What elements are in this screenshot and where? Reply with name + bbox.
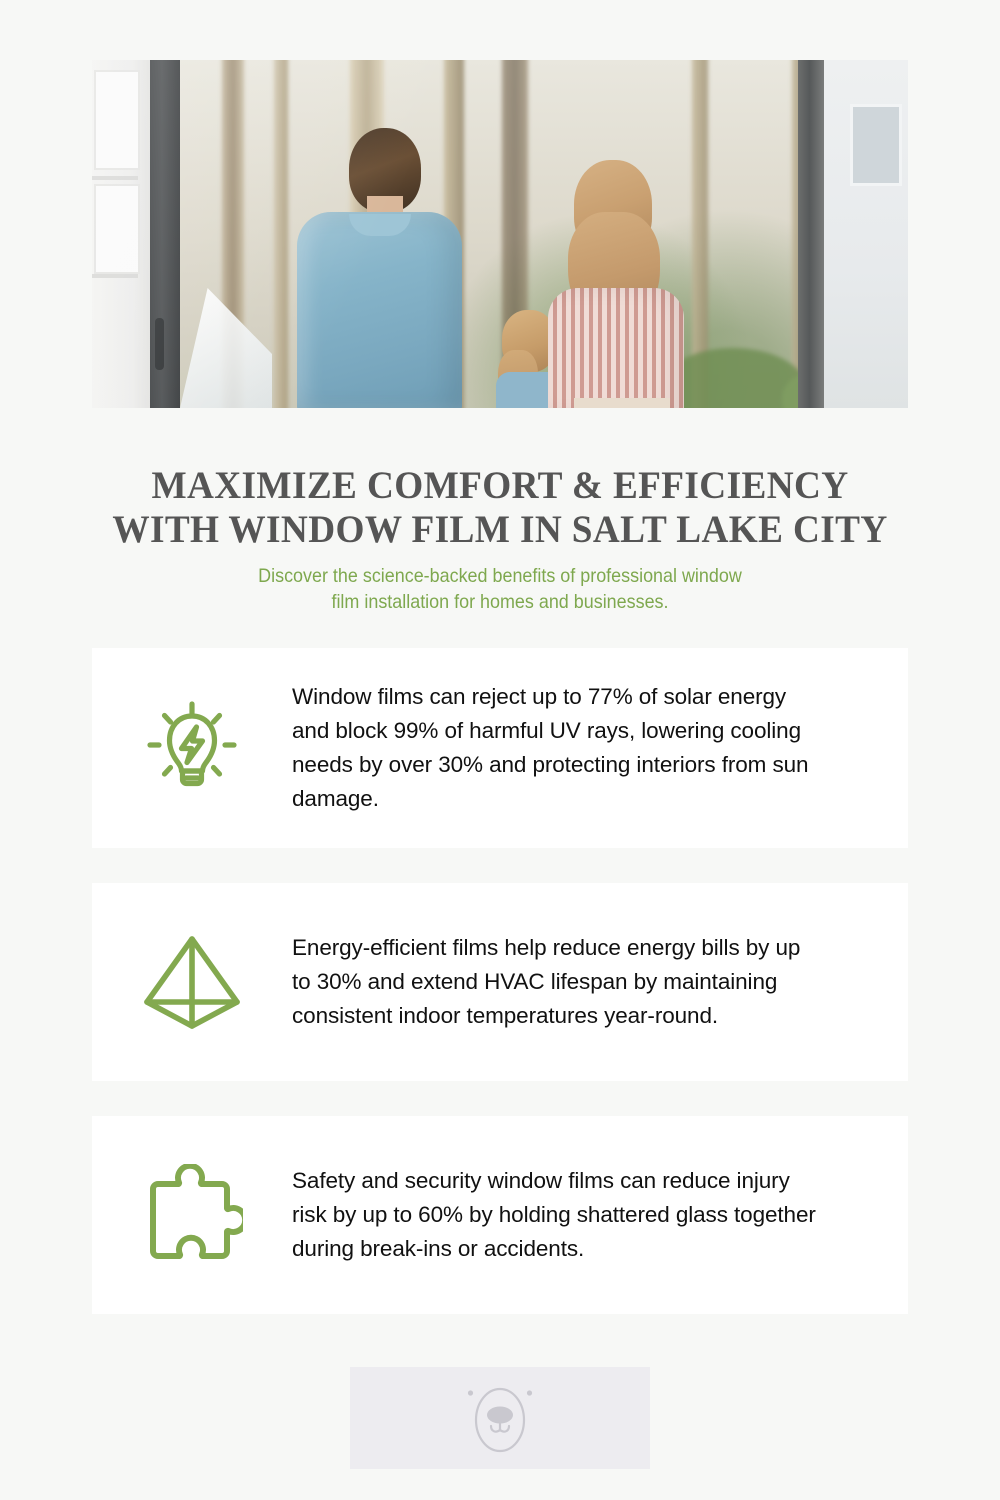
page-title-line-2: WITH WINDOW FILM IN SALT LAKE CITY <box>70 508 930 552</box>
page-title-line-1: MAXIMIZE COMFORT & EFFICIENCY <box>70 464 930 508</box>
footer-logo-placeholder <box>350 1367 650 1469</box>
shelf <box>92 274 138 278</box>
hero-photo <box>92 60 908 408</box>
card-body-text: Safety and security window films can red… <box>292 1164 908 1266</box>
hero-scene <box>92 60 908 408</box>
broken-image-bear-placeholder-icon <box>461 1381 539 1455</box>
shelf-unit <box>94 70 140 170</box>
pyramid-wireframe-icon <box>140 930 244 1034</box>
card-icon-slot <box>92 1164 292 1266</box>
page-subtitle: Discover the science-backed benefits of … <box>169 563 831 615</box>
card-icon-slot <box>92 930 292 1034</box>
card-body-text: Energy-efficient films help reduce energ… <box>292 931 908 1033</box>
card-icon-slot <box>92 698 292 798</box>
door-handle <box>155 318 164 370</box>
puzzle-piece-icon <box>141 1164 243 1266</box>
infographic-page: MAXIMIZE COMFORT & EFFICIENCY WITH WINDO… <box>0 0 1000 1500</box>
shelf-unit <box>94 184 140 274</box>
page-subtitle-line-2: film installation for homes and business… <box>169 589 831 615</box>
lightbulb-bolt-icon <box>142 698 242 798</box>
trousers <box>574 398 670 408</box>
denim-shirt <box>297 212 462 408</box>
benefit-card: Window films can reject up to 77% of sol… <box>92 648 908 848</box>
exterior-window <box>850 104 902 186</box>
benefit-card: Safety and security window films can red… <box>92 1116 908 1314</box>
striped-blouse <box>548 288 684 408</box>
exterior-wall <box>824 60 908 408</box>
benefit-card: Energy-efficient films help reduce energ… <box>92 883 908 1081</box>
page-title: MAXIMIZE COMFORT & EFFICIENCY WITH WINDO… <box>70 464 930 552</box>
shelf <box>92 176 138 180</box>
door-stile-right <box>798 60 824 408</box>
interior-wall <box>92 60 150 408</box>
person-adult-male <box>297 128 462 408</box>
page-subtitle-line-1: Discover the science-backed benefits of … <box>169 563 831 589</box>
card-body-text: Window films can reject up to 77% of sol… <box>292 680 908 816</box>
person-adult-female <box>544 160 684 408</box>
tree-trunk <box>274 60 288 408</box>
